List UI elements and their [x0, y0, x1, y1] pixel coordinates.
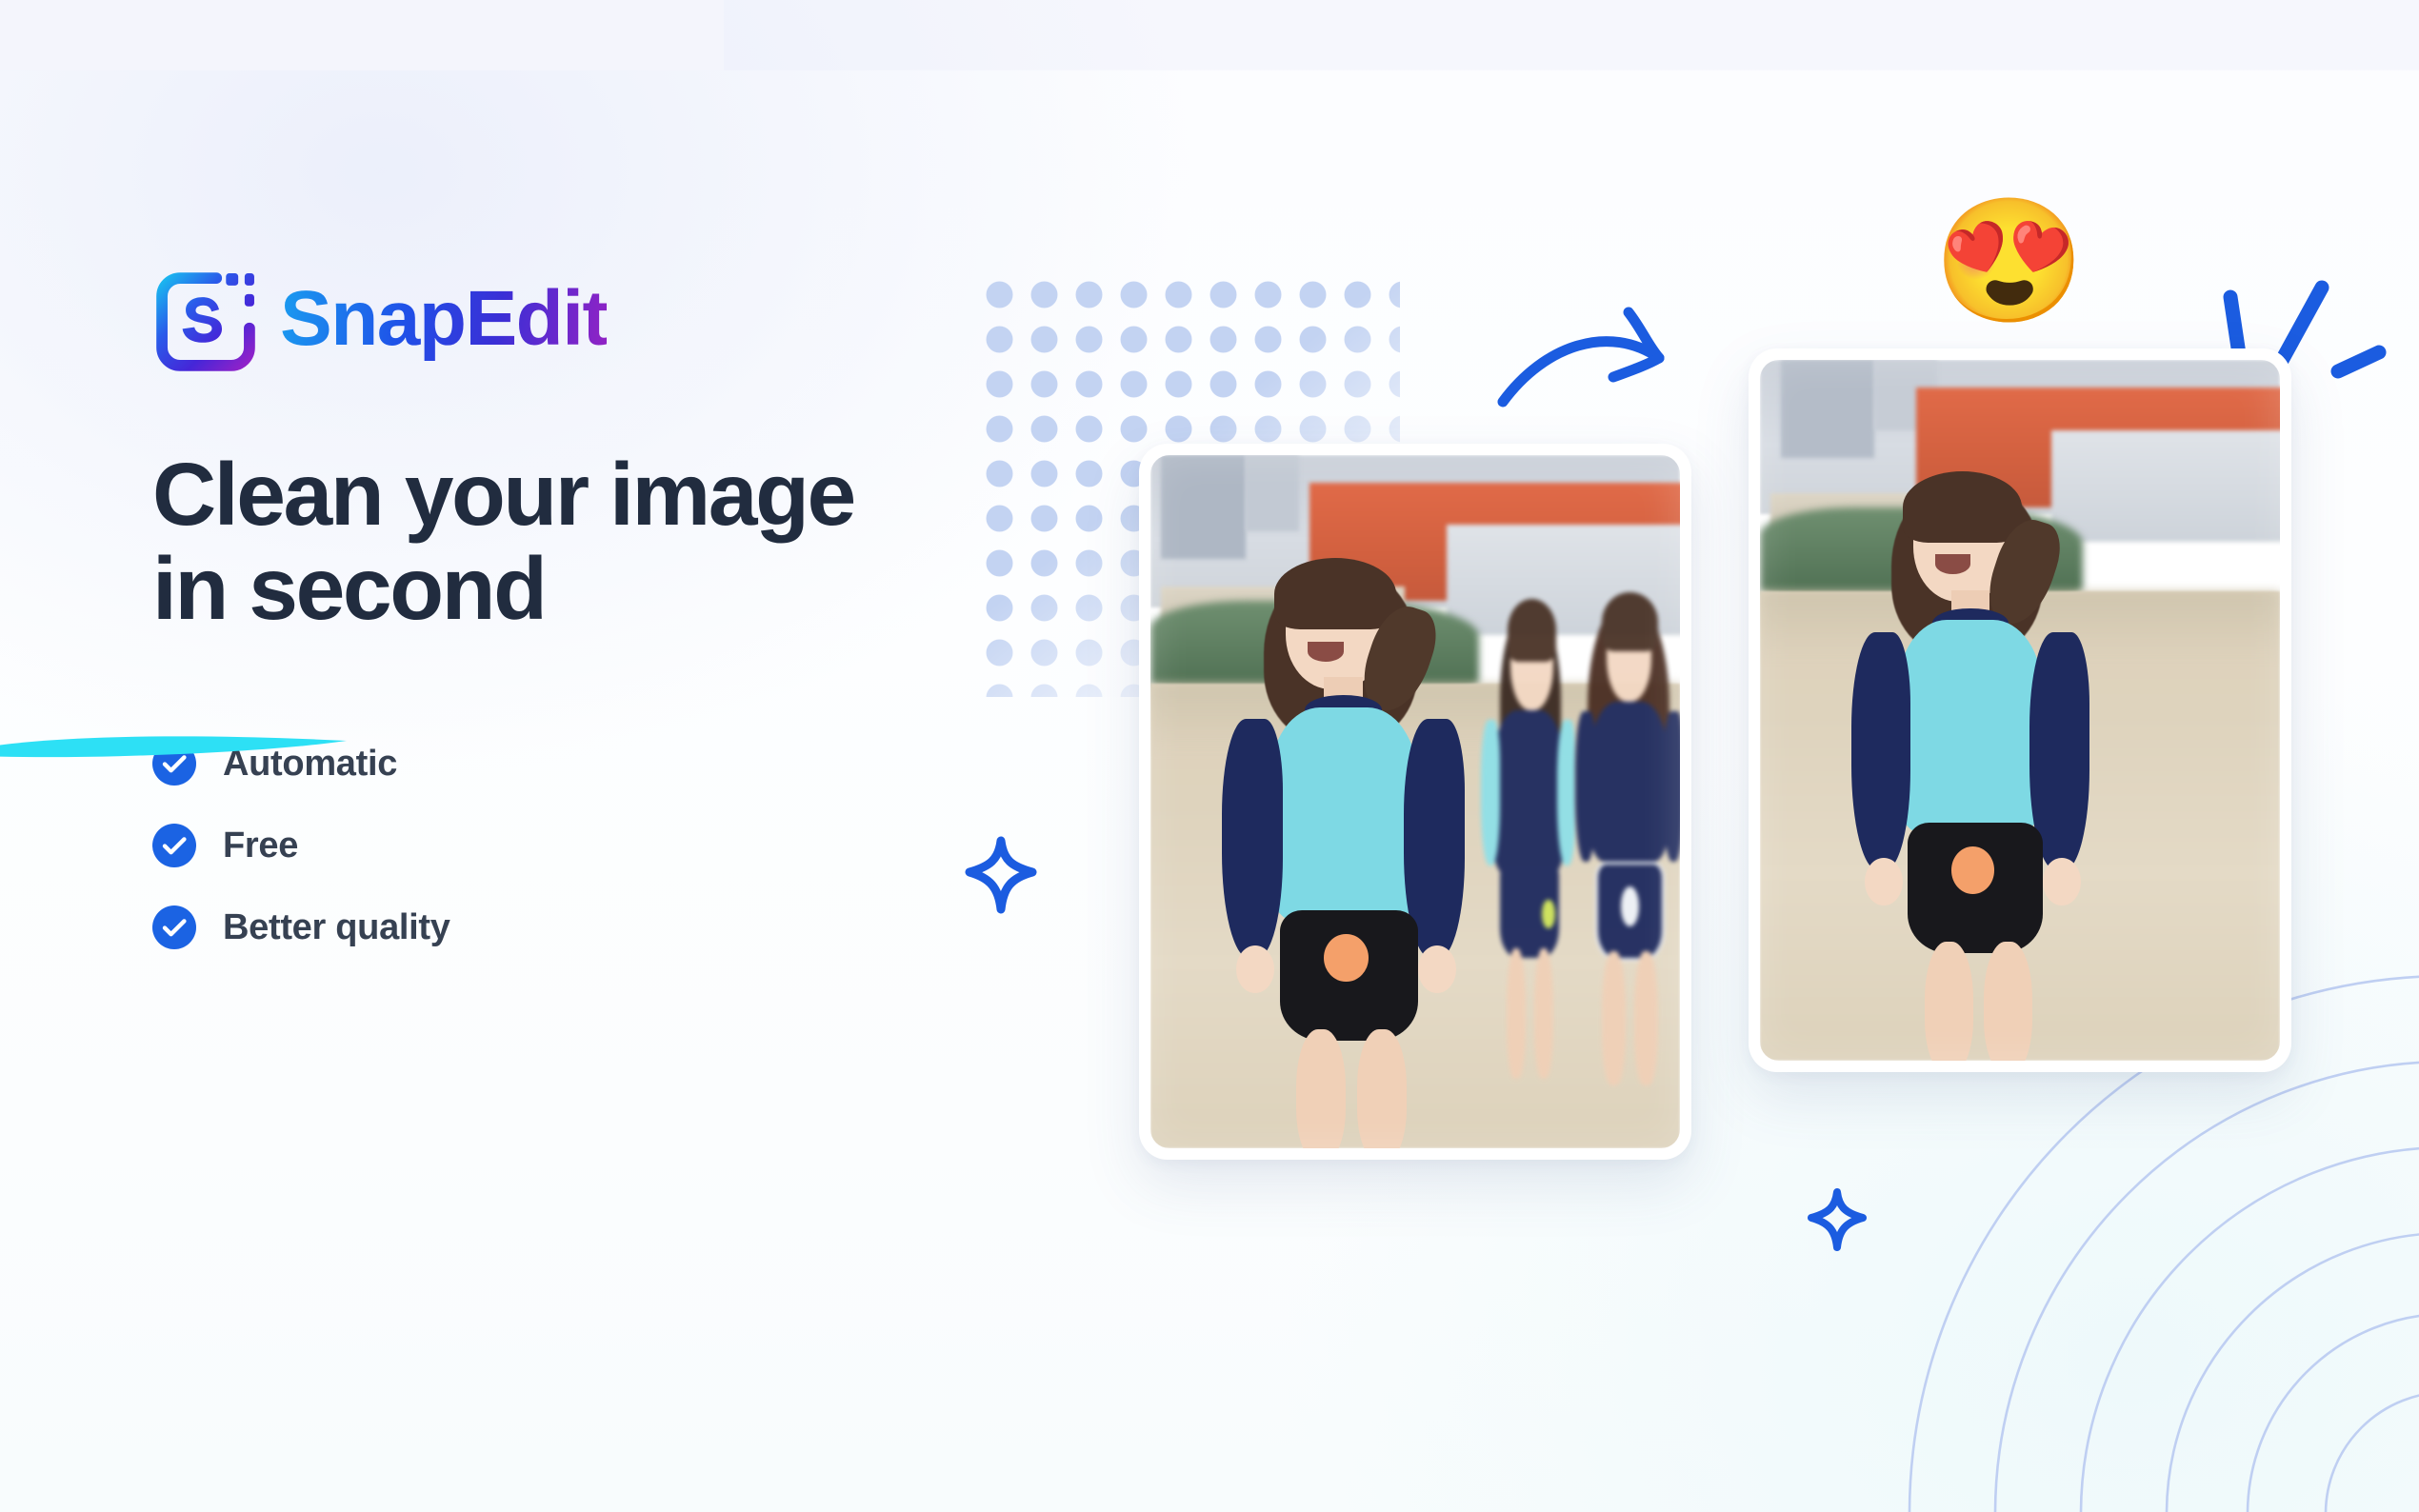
after-photo-card[interactable] — [1749, 348, 2291, 1072]
headline-line-2: in second — [152, 542, 545, 636]
curved-arrow-icon — [1495, 286, 1743, 409]
headline-underline-stroke — [0, 720, 354, 764]
before-photo-card[interactable] — [1139, 444, 1691, 1160]
feature-label: Free — [223, 826, 298, 866]
hero-text-column: SnapEdit Clean your image in second Auto… — [152, 269, 1105, 949]
brand-logo[interactable]: SnapEdit — [152, 269, 1105, 375]
feature-list: Automatic Free Better quality — [152, 742, 1105, 949]
four-point-star-icon — [1808, 1188, 1867, 1251]
snapedit-s-frame-icon — [152, 269, 259, 375]
page-title: Clean your image in second — [152, 448, 1086, 635]
feature-label: Better quality — [223, 907, 450, 948]
headline-line-1: Clean your image — [152, 448, 1086, 542]
list-item: Better quality — [152, 905, 1105, 949]
before-photo — [1150, 455, 1680, 1148]
brand-name: SnapEdit — [280, 280, 607, 364]
smiling-face-with-heart-eyes-emoji: 😍 — [1933, 190, 2076, 333]
after-photo — [1760, 360, 2280, 1061]
top-band — [0, 0, 724, 70]
list-item: Free — [152, 824, 1105, 867]
check-circle-icon — [152, 905, 196, 949]
hero-banner: SnapEdit Clean your image in second Auto… — [0, 0, 2419, 1512]
four-point-star-icon — [964, 836, 1038, 914]
check-circle-icon — [152, 824, 196, 867]
